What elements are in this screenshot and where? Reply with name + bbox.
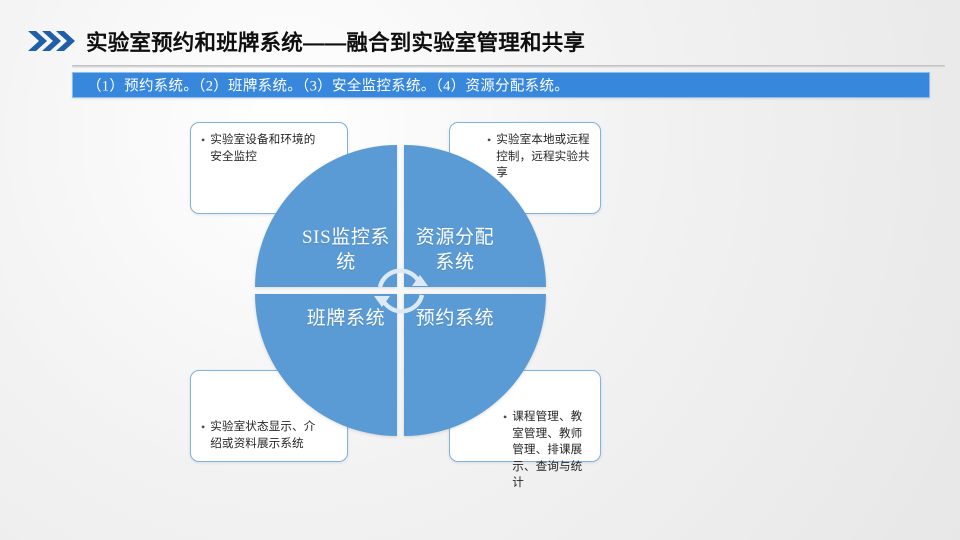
bullet-icon: •: [201, 132, 205, 149]
quadrant-wheel: SIS监控系统 资源分配系统 班牌系统 预约系统: [255, 145, 546, 436]
quadrant-class-board-label: 班牌系统: [301, 306, 391, 331]
slide-canvas: 实验室预约和班牌系统——融合到实验室管理和共享 （1）预约系统。（2）班牌系统。…: [0, 0, 960, 540]
triple-chevron-right-icon: [27, 28, 79, 54]
quadrant-sis-monitoring-label: SIS监控系统: [301, 225, 391, 275]
page-title: 实验室预约和班牌系统——融合到实验室管理和共享: [86, 26, 585, 57]
subtitle-bar: （1）预约系统。（2）班牌系统。（3）安全监控系统。（4）资源分配系统。: [72, 72, 930, 98]
bullet-icon: •: [201, 419, 205, 436]
slide-header: 实验室预约和班牌系统——融合到实验室管理和共享 （1）预约系统。（2）班牌系统。…: [0, 0, 960, 108]
quadrant-reservation-label: 预约系统: [410, 306, 500, 331]
subtitle-text: （1）预约系统。（2）班牌系统。（3）安全监控系统。（4）资源分配系统。: [87, 75, 569, 96]
title-divider: [72, 65, 945, 68]
systems-wheel-diagram: • 实验室设备和环境的安全监控 • 实验室本地或远程控制，远程实验共享 • 实验…: [0, 108, 960, 540]
quadrant-class-board[interactable]: 班牌系统: [255, 294, 397, 436]
quadrant-reservation[interactable]: 预约系统: [404, 294, 546, 436]
quadrant-resource-allocation[interactable]: 资源分配系统: [404, 145, 546, 287]
quadrant-sis-monitoring[interactable]: SIS监控系统: [255, 145, 397, 287]
quadrant-resource-allocation-label: 资源分配系统: [410, 225, 500, 275]
